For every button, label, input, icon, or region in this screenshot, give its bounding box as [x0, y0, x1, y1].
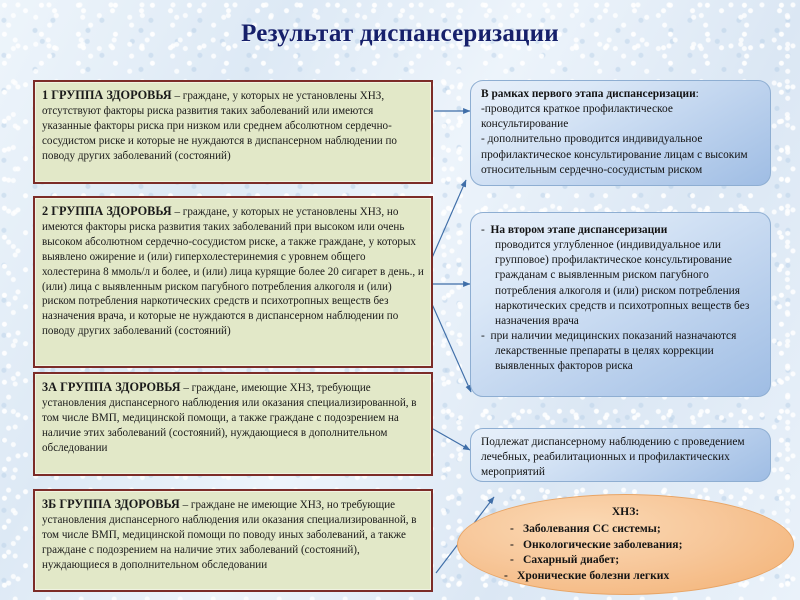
stage-two-line-2: при наличии медицинских показаний назнач… — [491, 330, 737, 372]
stage-one-heading-suffix: : — [696, 88, 699, 100]
stage-two-line-2-row: - при наличии медицинских показаний назн… — [481, 329, 761, 374]
hnz-item-label: Онкологические заболевания; — [523, 538, 682, 551]
health-group-2-body: – граждане, у которых не установлены ХНЗ… — [42, 206, 424, 337]
slide-canvas: Результат диспансеризации 1 ГРУППА ЗДОРО… — [0, 0, 800, 600]
health-group-1-box[interactable]: 1 ГРУППА ЗДОРОВЬЯ – граждане, у которых … — [33, 80, 433, 184]
hnz-dash: - — [510, 537, 523, 553]
hnz-ellipse[interactable]: ХНЗ: -Заболевания СС системы; -Онкологич… — [457, 494, 794, 595]
health-group-2-box[interactable]: 2 ГРУППА ЗДОРОВЬЯ – граждане, у которых … — [33, 196, 433, 368]
hnz-dash: - — [510, 552, 523, 568]
hnz-list: -Заболевания СС системы; -Онкологические… — [458, 521, 793, 584]
dispensary-observation-box[interactable]: Подлежат диспансерному наблюдению с пров… — [470, 428, 771, 482]
stage-one-line-2: - дополнительно проводится индивидуально… — [481, 133, 748, 175]
hnz-list-item: -Заболевания СС системы; — [510, 521, 793, 537]
stage-two-line-1: проводится углубленное (индивидуальное и… — [481, 238, 761, 329]
health-group-3a-lead: 3А ГРУППА ЗДОРОВЬЯ — [42, 380, 181, 394]
hnz-item-label: Сахарный диабет; — [523, 553, 619, 566]
page-title: Результат диспансеризации — [0, 20, 800, 48]
stage-two-box[interactable]: - На втором этапе диспансеризации провод… — [470, 212, 771, 397]
stage-two-heading-row: - На втором этапе диспансеризации — [481, 223, 761, 238]
stage-one-line-1: -проводится краткое профилактическое кон… — [481, 103, 673, 130]
stage-two-dash-2: - — [481, 330, 485, 342]
hnz-list-item: -Сахарный диабет; — [510, 552, 793, 568]
stage-two-heading: На втором этапе диспансеризации — [491, 224, 668, 236]
health-group-3b-box[interactable]: 3Б ГРУППА ЗДОРОВЬЯ – граждане не имеющие… — [33, 489, 433, 592]
health-group-3a-box[interactable]: 3А ГРУППА ЗДОРОВЬЯ – граждане, имеющие Х… — [33, 372, 433, 476]
dispensary-observation-text: Подлежат диспансерному наблюдению с пров… — [481, 436, 745, 478]
hnz-list-item: -Онкологические заболевания; — [510, 537, 793, 553]
stage-two-dash: - — [481, 224, 485, 236]
hnz-dash: - — [510, 521, 523, 537]
hnz-list-item: -Хронические болезни легких — [504, 568, 793, 584]
health-group-2-lead: 2 ГРУППА ЗДОРОВЬЯ — [42, 204, 172, 218]
health-group-3b-lead: 3Б ГРУППА ЗДОРОВЬЯ — [42, 497, 180, 511]
hnz-item-label: Заболевания СС системы; — [523, 522, 661, 535]
hnz-item-label: Хронические болезни легких — [517, 569, 669, 582]
stage-one-box[interactable]: В рамках первого этапа диспансеризации: … — [470, 80, 771, 186]
hnz-dash: - — [504, 568, 517, 584]
health-group-1-lead: 1 ГРУППА ЗДОРОВЬЯ — [42, 88, 172, 102]
stage-one-heading: В рамках первого этапа диспансеризации — [481, 88, 696, 100]
hnz-title: ХНЗ: — [458, 504, 793, 520]
